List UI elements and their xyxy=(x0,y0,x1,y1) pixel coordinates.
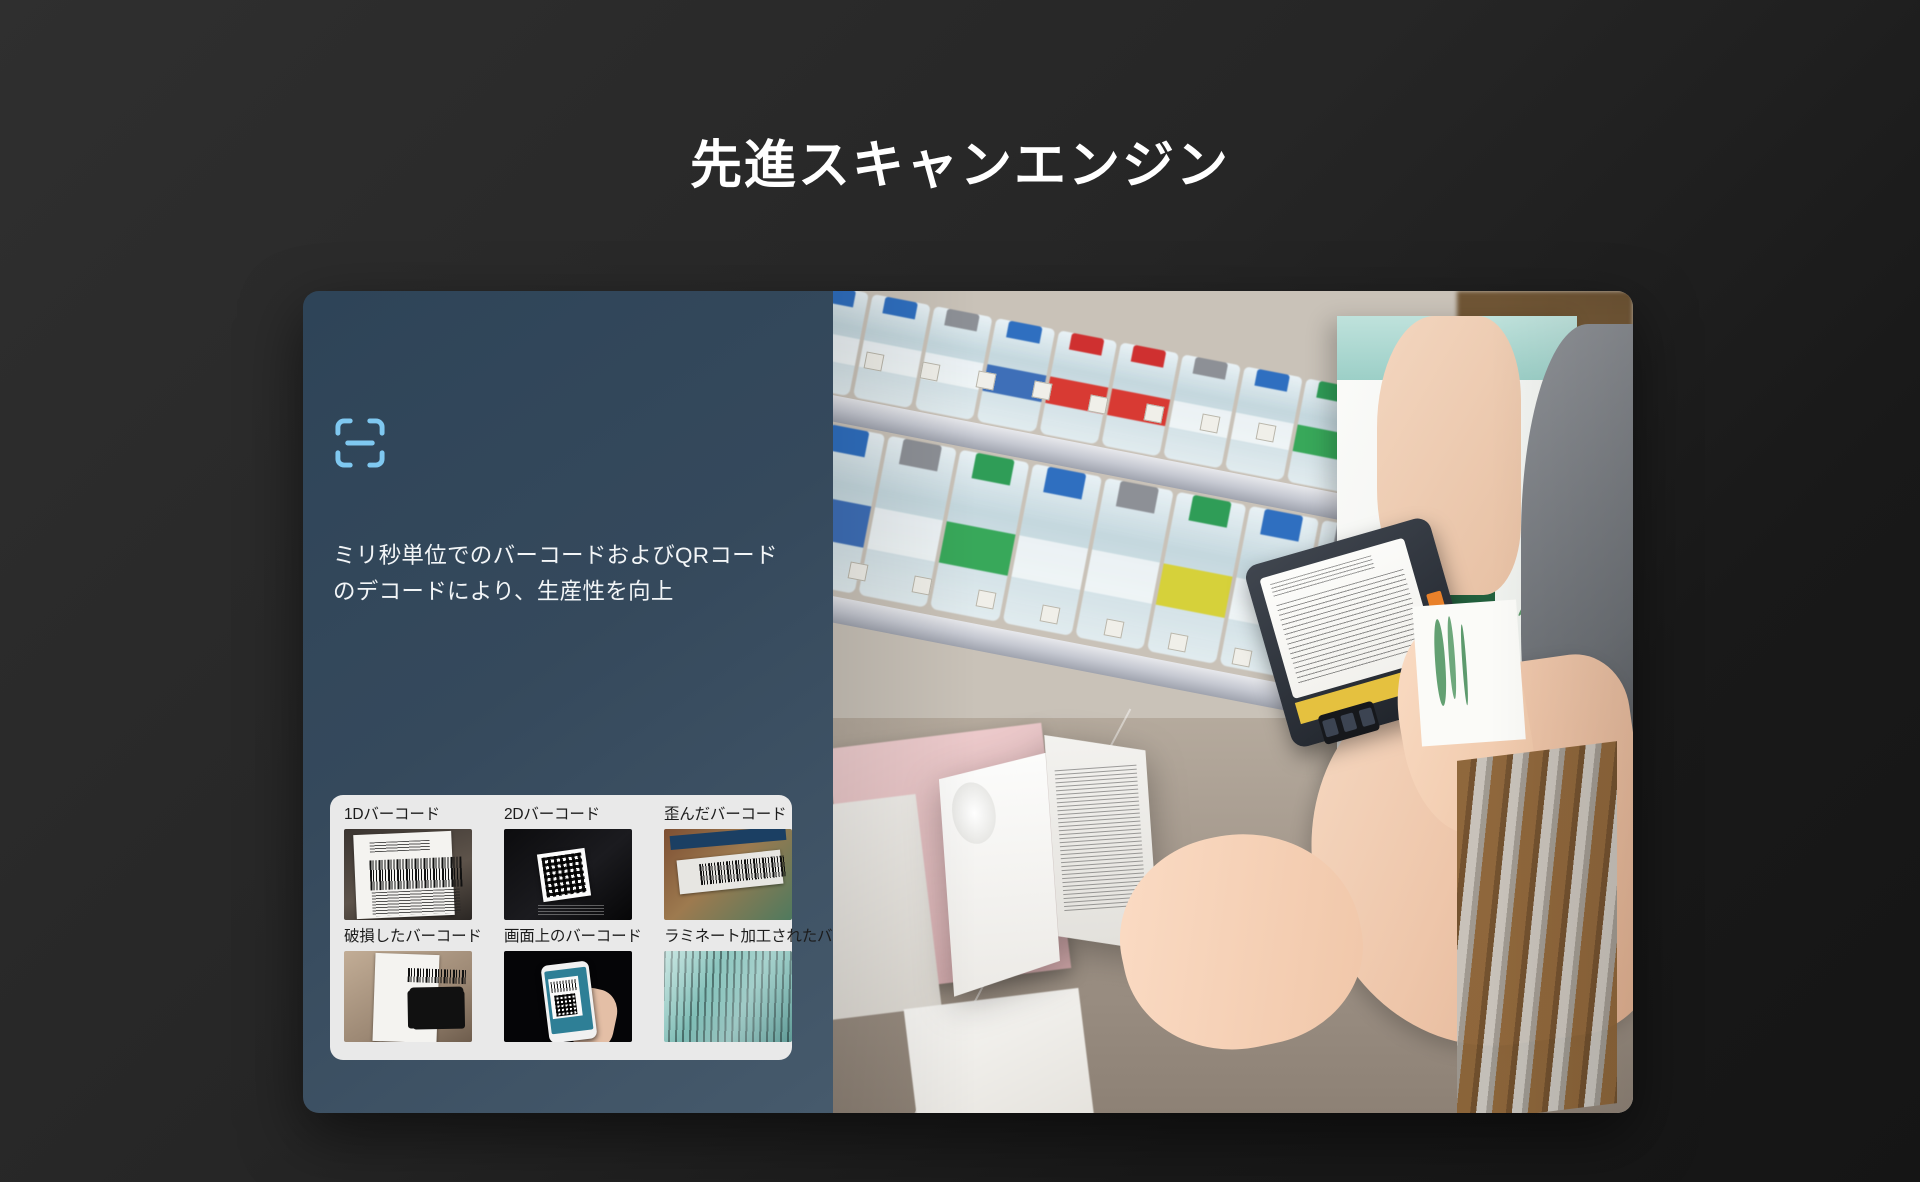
sample-cell-damaged[interactable]: 破損したバーコード xyxy=(344,929,504,1049)
sample-image-damaged-barcode xyxy=(344,951,472,1042)
wooden-bench xyxy=(1457,742,1617,1113)
sample-cell-2d[interactable]: 2Dバーコード xyxy=(504,807,664,927)
barcode-samples-card: 1Dバーコード 2Dバーコード xyxy=(330,795,792,1060)
page-title: 先進スキャンエンジン xyxy=(0,135,1920,197)
info-panel: ミリ秒単位でのバーコードおよびQRコードのデコードにより、生産性を向上 1Dバー… xyxy=(303,291,833,1113)
barcode-samples-grid: 1Dバーコード 2Dバーコード xyxy=(344,807,792,1049)
feature-card: ミリ秒単位でのバーコードおよびQRコードのデコードにより、生産性を向上 1Dバー… xyxy=(303,291,1633,1113)
sample-image-skewed-barcode xyxy=(664,829,792,920)
sample-label: 破損したバーコード xyxy=(344,929,482,945)
sample-image-1d-barcode xyxy=(344,829,472,920)
sample-cell-1d[interactable]: 1Dバーコード xyxy=(344,807,504,927)
sample-label: 1Dバーコード xyxy=(344,807,440,823)
sample-label: 歪んだバーコード xyxy=(664,807,786,823)
sample-cell-on-screen[interactable]: 画面上のバーコード xyxy=(504,929,664,1049)
sample-cell-laminated[interactable]: ラミネート加工されたバーコード xyxy=(664,929,824,1049)
info-description: ミリ秒単位でのバーコードおよびQRコードのデコードにより、生産性を向上 xyxy=(333,538,780,611)
sample-label: 画面上のバーコード xyxy=(504,929,642,945)
shelf-sign xyxy=(1412,600,1525,747)
white-product-box-bottom xyxy=(904,988,1099,1113)
sample-label: 2Dバーコード xyxy=(504,807,600,823)
sample-image-barcode-on-screen xyxy=(504,951,632,1042)
sample-image-laminated-barcode xyxy=(664,951,792,1042)
scan-frame-icon xyxy=(333,416,387,470)
feature-photo xyxy=(833,291,1633,1113)
sample-image-2d-qr xyxy=(504,829,632,920)
sample-cell-skewed[interactable]: 歪んだバーコード xyxy=(664,807,824,927)
